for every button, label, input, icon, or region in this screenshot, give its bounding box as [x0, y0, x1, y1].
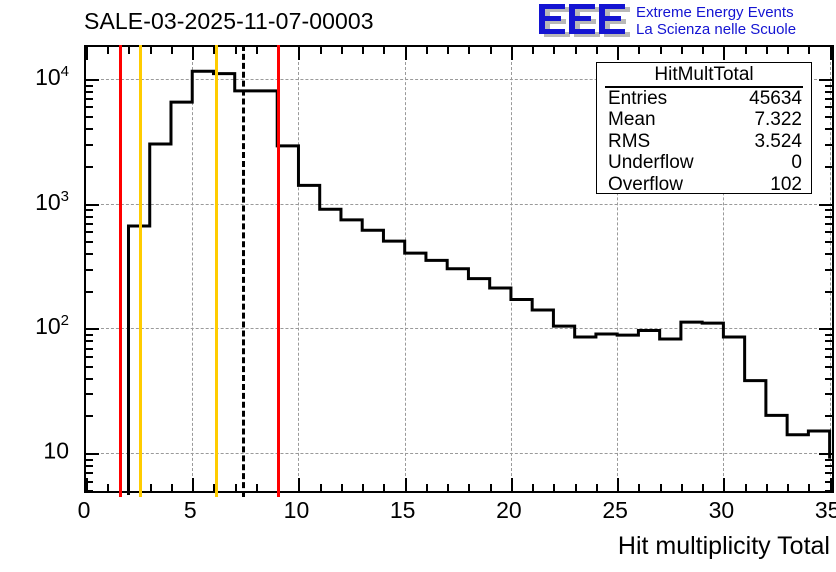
x-axis-tick-label: 5 [184, 497, 197, 524]
marker-line-mean-dashed [242, 45, 245, 497]
x-axis-tick-label: 30 [709, 497, 735, 524]
stats-row-key: Underflow [608, 152, 694, 173]
eee-logo-line2: La Scienza nelle Scuole [636, 21, 834, 38]
stats-row: Overflow102 [597, 174, 811, 195]
stats-row: Mean7.322 [597, 109, 811, 130]
eee-logo-icon [536, 4, 632, 40]
stats-row-key: Overflow [608, 174, 683, 195]
eee-logo: Extreme Energy Events La Scienza nelle S… [536, 3, 834, 43]
y-axis-tick-label: 103 [35, 188, 78, 216]
stats-row: Underflow0 [597, 152, 811, 173]
marker-line-red-high [277, 45, 280, 497]
stats-row-key: RMS [608, 131, 650, 152]
stats-box-title: HitMultTotal [597, 64, 811, 85]
root-canvas: SALE-03-2025-11-07-00003 [0, 0, 836, 572]
marker-line-gold-low [139, 45, 142, 497]
y-axis-tick-label: 104 [35, 63, 78, 91]
marker-line-gold-high [215, 45, 218, 497]
stats-row-value: 45634 [749, 88, 802, 109]
y-axis-tick-label: 10 [43, 437, 78, 464]
x-axis-tick-label: 15 [390, 497, 416, 524]
stats-box-rows: Entries45634Mean7.322RMS3.524Underflow0O… [597, 88, 811, 195]
stats-row-value: 0 [791, 152, 802, 173]
x-axis-tick-label: 10 [284, 497, 310, 524]
x-axis-title: Hit multiplicity Total [618, 532, 830, 561]
x-axis-tick-label: 35 [815, 497, 836, 524]
stats-row-value: 102 [770, 174, 802, 195]
x-axis-tick-label: 20 [496, 497, 522, 524]
stats-row-value: 7.322 [754, 109, 802, 130]
stats-box: HitMultTotal Entries45634Mean7.322RMS3.5… [596, 62, 812, 194]
marker-line-red-low [119, 45, 122, 497]
stats-row-key: Entries [608, 88, 667, 109]
y-axis-labels: 10102103104 [0, 45, 78, 493]
page-title: SALE-03-2025-11-07-00003 [84, 8, 374, 35]
y-axis-tick-label: 102 [35, 312, 78, 340]
eee-logo-text: Extreme Energy Events La Scienza nelle S… [636, 4, 834, 38]
stats-row: RMS3.524 [597, 131, 811, 152]
stats-row: Entries45634 [597, 88, 811, 109]
stats-row-value: 3.524 [754, 131, 802, 152]
x-axis-tick-label: 0 [78, 497, 91, 524]
eee-logo-line1: Extreme Energy Events [636, 4, 834, 21]
stats-row-key: Mean [608, 109, 656, 130]
x-axis-tick-label: 25 [602, 497, 628, 524]
